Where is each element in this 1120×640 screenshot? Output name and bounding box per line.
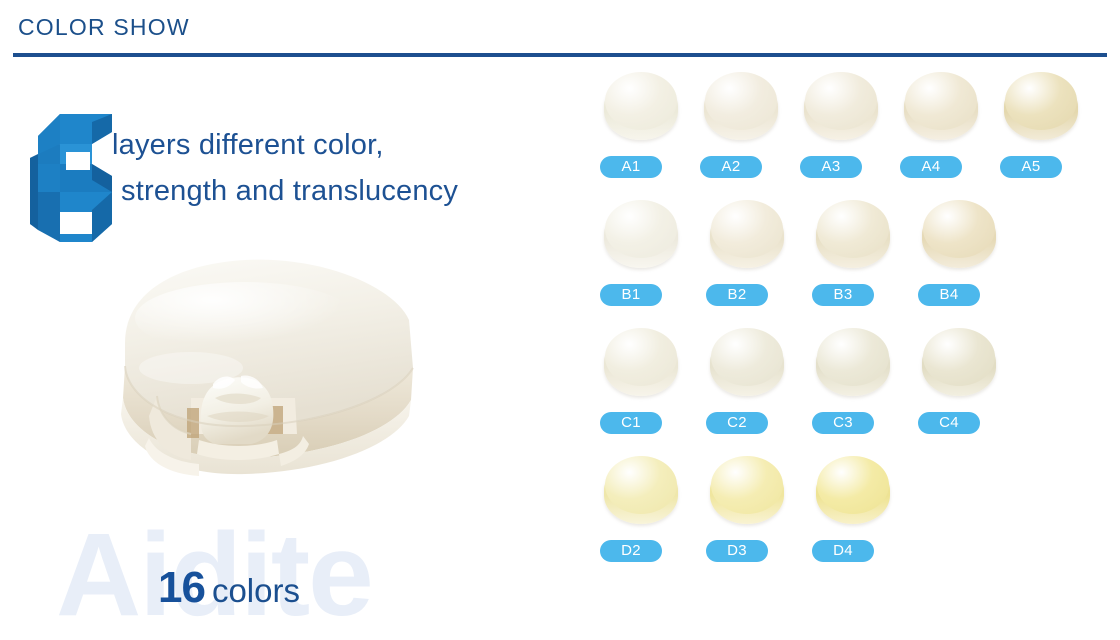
disc-a3 [804, 72, 880, 146]
disc-top-face [1005, 72, 1077, 130]
left-panel: Aidite layers different color, strength … [0, 58, 560, 610]
shade-label-a5[interactable]: A5 [1000, 156, 1062, 178]
shade-swatch-grid: A1A2A3A4A5B1B2B3B4C1C2C3C4D2D3D4 [560, 58, 1120, 610]
swatch-a4[interactable]: A4 [894, 68, 990, 196]
page-title: COLOR SHOW [18, 14, 190, 41]
swatch-a5[interactable]: A5 [994, 68, 1090, 196]
six-numeral-graphic [30, 114, 122, 242]
color-count-number: 16 [158, 563, 205, 612]
swatch-c2[interactable]: C2 [700, 324, 796, 452]
headline-line-2: strength and translucency [112, 168, 552, 214]
disc-a5 [1004, 72, 1080, 146]
swatch-d2[interactable]: D2 [594, 452, 690, 580]
disc-top-face [711, 456, 783, 514]
shade-label-c2[interactable]: C2 [706, 412, 768, 434]
swatch-a1[interactable]: A1 [594, 68, 690, 196]
disc-b4 [922, 200, 998, 274]
swatch-a3[interactable]: A3 [794, 68, 890, 196]
shade-label-a2[interactable]: A2 [700, 156, 762, 178]
color-count-label: colors [212, 572, 300, 609]
swatch-b3[interactable]: B3 [806, 196, 902, 324]
disc-c1 [604, 328, 680, 402]
shade-label-c3[interactable]: C3 [812, 412, 874, 434]
shade-label-b1[interactable]: B1 [600, 284, 662, 306]
shade-label-d3[interactable]: D3 [706, 540, 768, 562]
disc-c2 [710, 328, 786, 402]
swatch-c4[interactable]: C4 [912, 324, 1008, 452]
headline-text: layers different color, strength and tra… [112, 122, 552, 214]
swatch-b2[interactable]: B2 [700, 196, 796, 324]
disc-top-face [905, 72, 977, 130]
swatch-c1[interactable]: C1 [594, 324, 690, 452]
swatch-a2[interactable]: A2 [694, 68, 790, 196]
disc-top-face [605, 328, 677, 386]
disc-top-face [605, 72, 677, 130]
swatch-b4[interactable]: B4 [912, 196, 1008, 324]
disc-top-face [923, 200, 995, 258]
disc-top-face [817, 200, 889, 258]
disc-a4 [904, 72, 980, 146]
swatch-row-b: B1B2B3B4 [560, 196, 1120, 324]
disc-c3 [816, 328, 892, 402]
shade-label-d2[interactable]: D2 [600, 540, 662, 562]
disc-top-face [805, 72, 877, 130]
disc-b3 [816, 200, 892, 274]
header-divider [13, 53, 1107, 57]
color-count: 16colors [158, 563, 300, 613]
disc-top-face [817, 456, 889, 514]
disc-a2 [704, 72, 780, 146]
swatch-row-a: A1A2A3A4A5 [560, 68, 1120, 196]
disc-top-face [817, 328, 889, 386]
disc-top-face [923, 328, 995, 386]
shade-label-c4[interactable]: C4 [918, 412, 980, 434]
disc-top-face [711, 200, 783, 258]
page-header: COLOR SHOW [0, 0, 1120, 58]
shade-label-b4[interactable]: B4 [918, 284, 980, 306]
swatch-d4[interactable]: D4 [806, 452, 902, 580]
disc-d4 [816, 456, 892, 530]
swatch-d3[interactable]: D3 [700, 452, 796, 580]
disc-a1 [604, 72, 680, 146]
disc-top-face [705, 72, 777, 130]
shade-label-a3[interactable]: A3 [800, 156, 862, 178]
swatch-c3[interactable]: C3 [806, 324, 902, 452]
swatch-row-c: C1C2C3C4 [560, 324, 1120, 452]
dental-block-illustration [95, 248, 425, 508]
disc-top-face [711, 328, 783, 386]
swatch-row-d: D2D3D4 [560, 452, 1120, 580]
disc-top-face [605, 456, 677, 514]
shade-label-a1[interactable]: A1 [600, 156, 662, 178]
shade-label-b3[interactable]: B3 [812, 284, 874, 306]
headline-line-1: layers different color, [112, 122, 552, 168]
disc-d3 [710, 456, 786, 530]
shade-label-a4[interactable]: A4 [900, 156, 962, 178]
disc-b1 [604, 200, 680, 274]
shade-label-d4[interactable]: D4 [812, 540, 874, 562]
shade-label-c1[interactable]: C1 [600, 412, 662, 434]
disc-c4 [922, 328, 998, 402]
disc-b2 [710, 200, 786, 274]
swatch-b1[interactable]: B1 [594, 196, 690, 324]
shade-label-b2[interactable]: B2 [706, 284, 768, 306]
disc-top-face [605, 200, 677, 258]
disc-d2 [604, 456, 680, 530]
